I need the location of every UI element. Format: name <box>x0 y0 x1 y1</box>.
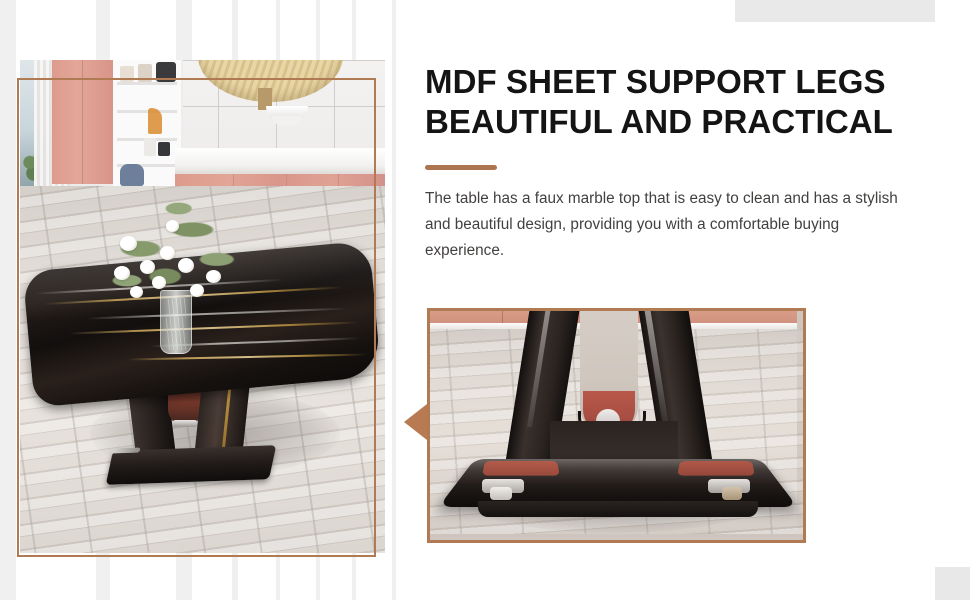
stripe <box>392 0 396 600</box>
foot-red-pad-left <box>482 461 560 476</box>
stripe <box>0 0 16 600</box>
body-copy: The table has a faux marble top that is … <box>425 186 909 265</box>
headline: MDF SHEET SUPPORT LEGS BEAUTIFUL AND PRA… <box>425 62 945 143</box>
foot-glide-left <box>490 487 512 500</box>
left-arrow-icon <box>404 404 427 440</box>
product-banner: MDF SHEET SUPPORT LEGS BEAUTIFUL AND PRA… <box>0 0 970 600</box>
gray-block-bottom-right <box>935 567 970 600</box>
accent-rule <box>425 165 497 170</box>
foot-glide-right <box>722 487 742 500</box>
gray-bar-top <box>735 0 935 22</box>
foot-red-pad-right <box>677 461 755 476</box>
left-image-frame <box>17 78 376 557</box>
text-column: MDF SHEET SUPPORT LEGS BEAUTIFUL AND PRA… <box>425 62 945 264</box>
pedestal-leg-closeup-image <box>427 308 806 543</box>
foot-plate-front-edge <box>478 501 758 517</box>
